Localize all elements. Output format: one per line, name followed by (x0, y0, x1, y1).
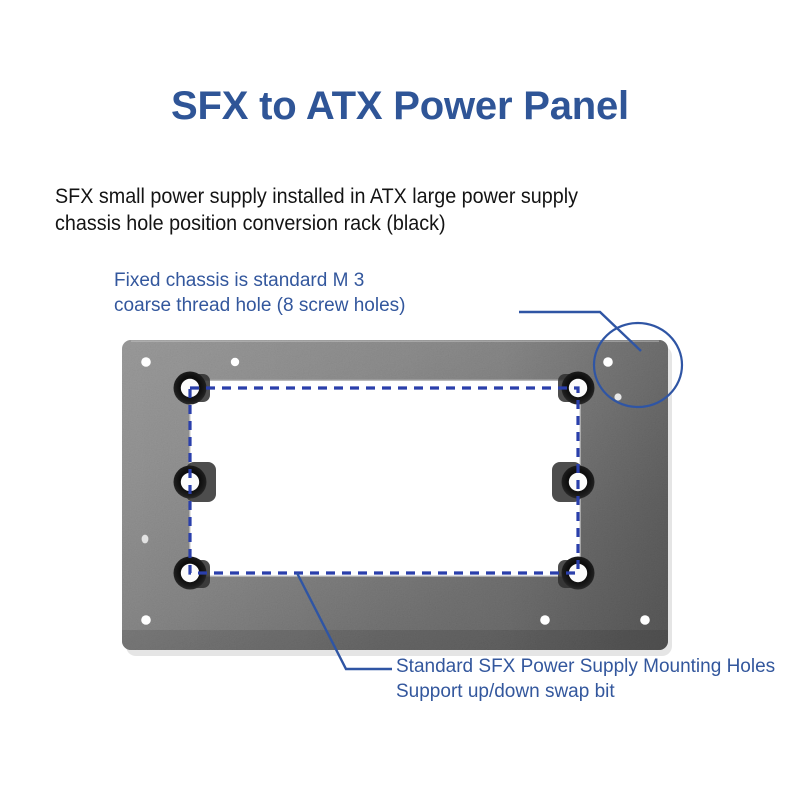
infographic-page: SFX to ATX Power Panel SFX small power s… (0, 0, 800, 800)
product-illustration (0, 0, 800, 800)
chassis-screw-hole (231, 358, 239, 366)
sfx-mounting-hole (558, 557, 595, 590)
chassis-screw-hole (142, 535, 149, 544)
chassis-screw-hole (141, 357, 151, 367)
plate-center-cutout (190, 380, 580, 576)
chassis-screw-hole (141, 615, 151, 625)
chassis-screw-hole (603, 357, 613, 367)
chassis-screw-hole (540, 615, 550, 625)
plate-bottom-shadow (122, 630, 668, 652)
chassis-screw-hole (614, 393, 621, 400)
chassis-screw-hole (640, 615, 650, 625)
adapter-bracket-plate (122, 340, 672, 656)
